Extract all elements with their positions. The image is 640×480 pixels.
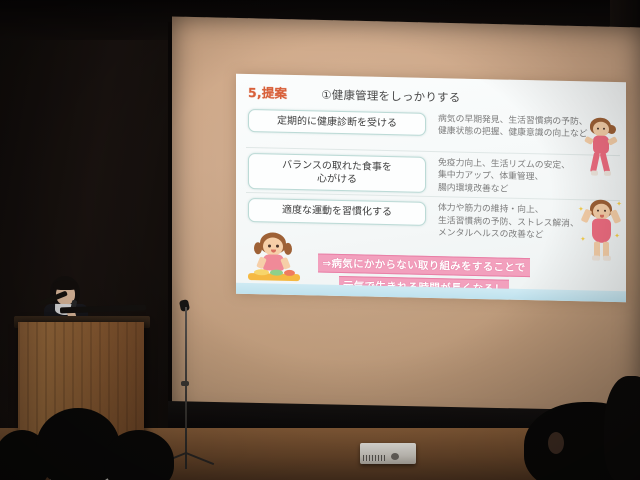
projector-vent xyxy=(363,455,385,461)
table-row: 適度な運動を習慣化する 体力や筋力の維持・向上、 生活習慣病の予防、ストレス解消… xyxy=(246,193,620,246)
projector-lens xyxy=(391,453,399,460)
slide-title-number: 5,提案 xyxy=(248,82,287,102)
table-row: バランスの取れた食事を 心がける 免疫力向上、生活リズムの安定、 集中力アップ、… xyxy=(246,148,620,202)
label-line: 心がける xyxy=(252,171,422,188)
slide-title-heading: ①健康管理をしっかりする xyxy=(321,87,460,106)
audience-ear xyxy=(548,432,564,454)
projected-slide: 5,提案 ①健康管理をしっかりする 定期的に健康診断を受ける 病気の早期発見、生… xyxy=(236,74,626,303)
girl-eating-meal-icon xyxy=(248,230,300,289)
auditorium-photo: 5,提案 ①健康管理をしっかりする 定期的に健康診断を受ける 病気の早期発見、生… xyxy=(0,0,640,480)
microphone-stand-leg xyxy=(185,453,187,469)
row-label-diet: バランスの取れた食事を 心がける xyxy=(248,153,426,193)
microphone-stand-joint xyxy=(181,381,189,386)
girl-cheering-icon: ✦ ✦ ✦ ✦ xyxy=(578,191,622,264)
girl-running-icon xyxy=(582,117,622,180)
audience-head xyxy=(604,376,640,480)
row-label-exercise: 適度な運動を習慣化する xyxy=(248,198,426,225)
slide-table: 定期的に健康診断を受ける 病気の早期発見、生活習慣病の予防、 健康状態の把握、健… xyxy=(246,104,620,246)
projector xyxy=(360,443,416,464)
row-label-checkup: 定期的に健康診断を受ける xyxy=(248,109,426,136)
